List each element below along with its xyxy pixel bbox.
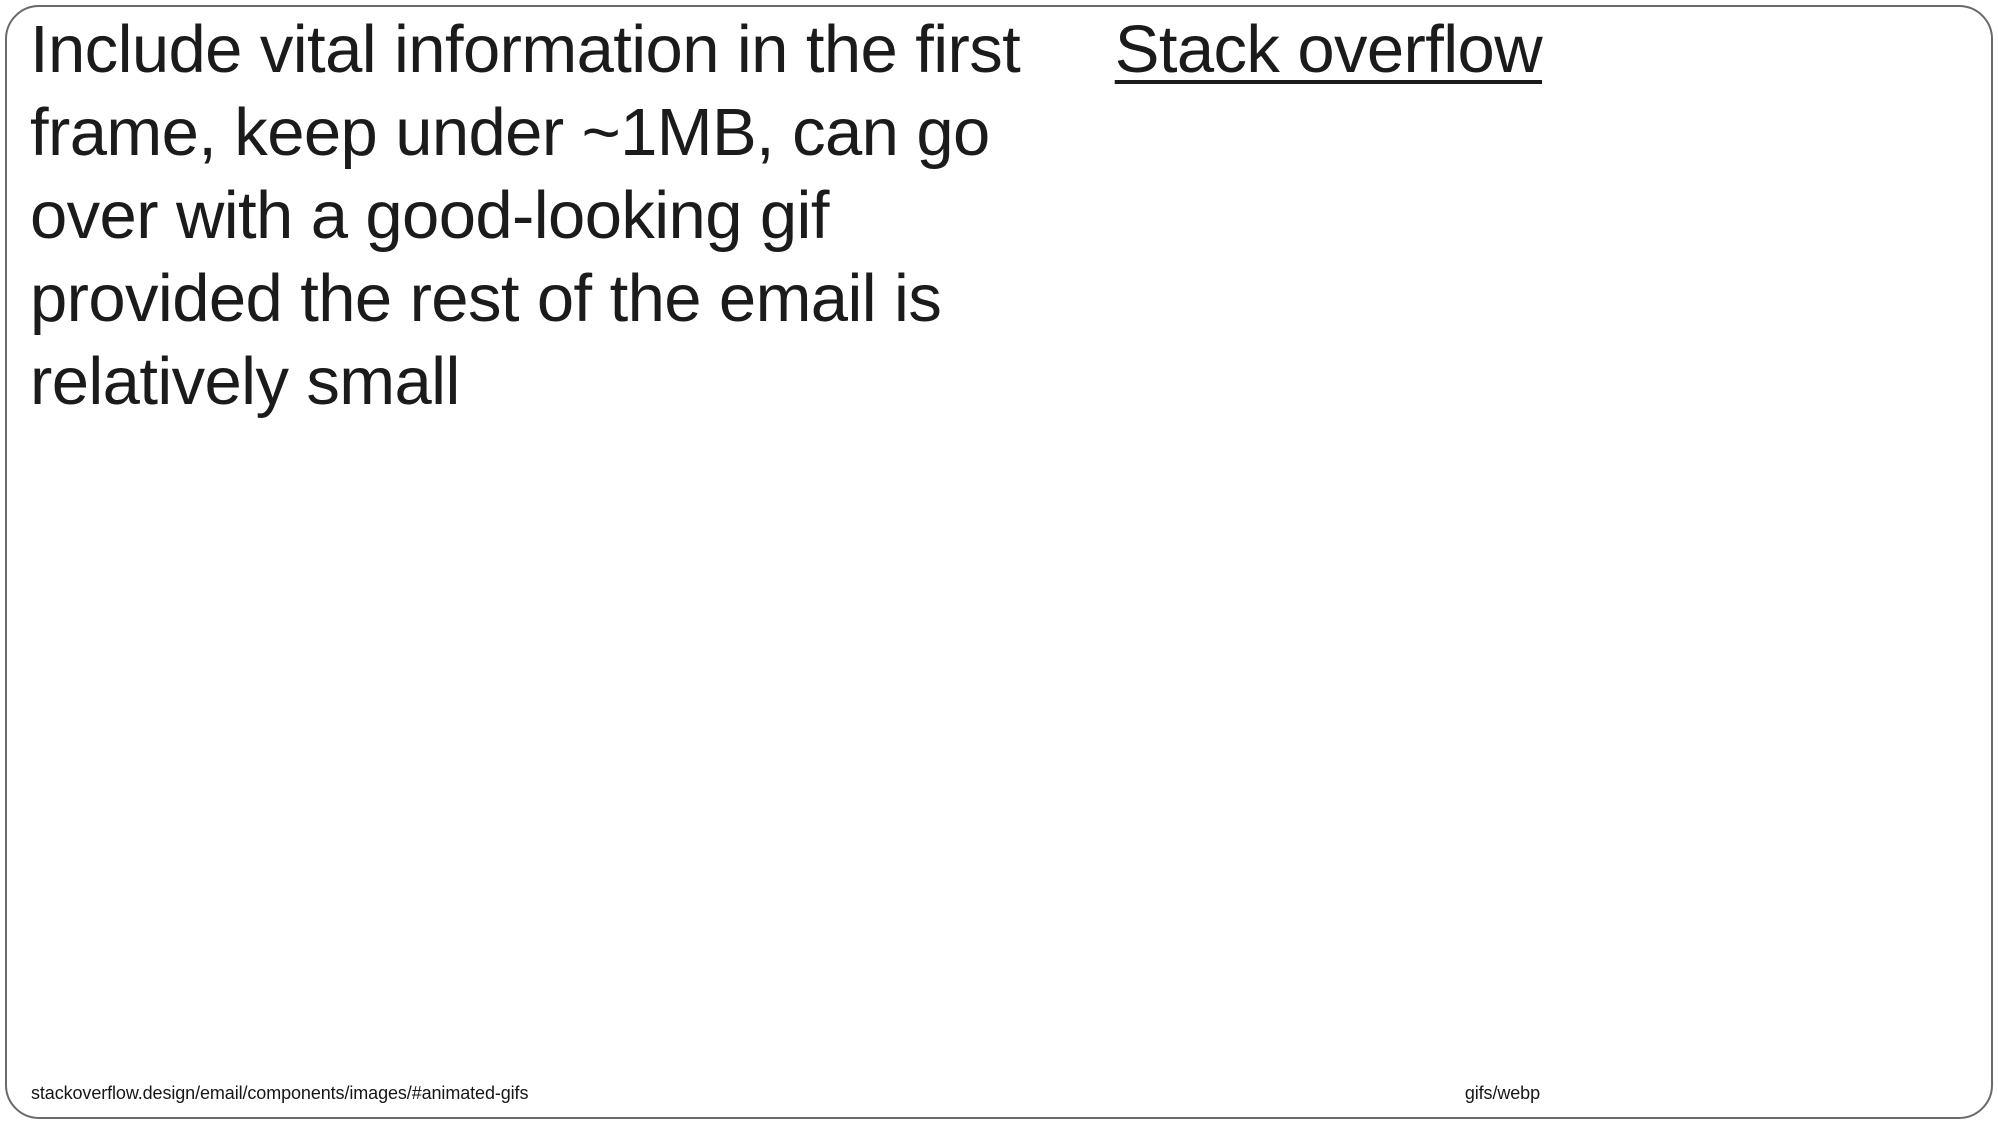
slide-canvas: Include vital information in the first f… xyxy=(0,0,1998,1124)
page-title: Include vital information in the first f… xyxy=(30,8,1050,423)
footer-category-tag: gifs/webp xyxy=(1465,1082,1540,1104)
brand-label: Stack overflow xyxy=(1115,8,1542,91)
footer-source-url: stackoverflow.design/email/components/im… xyxy=(31,1082,528,1104)
